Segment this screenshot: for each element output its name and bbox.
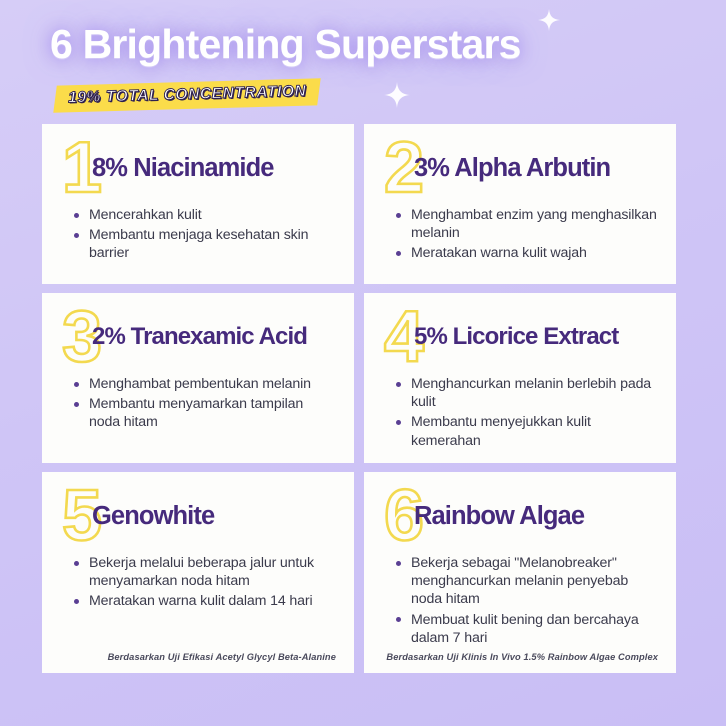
card-title: Rainbow Algae [414, 502, 584, 531]
list-item: Bekerja melalui beberapa jalur untuk men… [74, 554, 336, 590]
header: 6 Brightening Superstars 19% TOTAL CONCE… [0, 0, 726, 122]
list-item: Mencerahkan kulit [74, 206, 336, 224]
ingredient-card-5[interactable]: 5 Genowhite Bekerja melalui beberapa jal… [42, 472, 354, 673]
ingredient-card-4[interactable]: 4 5% Licorice Extract Menghancurkan mela… [364, 293, 676, 463]
card-footnote: Berdasarkan Uji Klinis In Vivo 1.5% Rain… [364, 652, 658, 662]
list-item: Menghancurkan melanin berlebih pada kuli… [396, 375, 658, 411]
benefit-list: Bekerja sebagai "Melanobreaker" menghanc… [396, 554, 658, 647]
list-item: Membuat kulit bening dan bercahaya dalam… [396, 611, 658, 647]
card-header: 6 Rainbow Algae [382, 490, 658, 546]
card-header: 1 8% Niacinamide [60, 142, 336, 198]
list-item: Meratakan warna kulit dalam 14 hari [74, 592, 336, 610]
card-title: 5% Licorice Extract [414, 323, 618, 351]
list-item: Bekerja sebagai "Melanobreaker" menghanc… [396, 554, 658, 609]
ingredient-card-grid: 1 8% Niacinamide Mencerahkan kulit Memba… [42, 124, 676, 673]
card-title: 3% Alpha Arbutin [414, 154, 610, 183]
benefit-list: Menghambat pembentukan melanin Membantu … [74, 375, 336, 432]
card-title: 8% Niacinamide [92, 154, 274, 183]
ingredient-card-2[interactable]: 2 3% Alpha Arbutin Menghambat enzim yang… [364, 124, 676, 284]
card-header: 2 3% Alpha Arbutin [382, 142, 658, 198]
ingredient-card-1[interactable]: 1 8% Niacinamide Mencerahkan kulit Memba… [42, 124, 354, 284]
list-item: Meratakan warna kulit wajah [396, 244, 658, 262]
benefit-list: Menghancurkan melanin berlebih pada kuli… [396, 375, 658, 450]
list-item: Menghambat pembentukan melanin [74, 375, 336, 393]
card-footnote: Berdasarkan Uji Efikasi Acetyl Glycyl Be… [42, 652, 336, 662]
list-item: Membantu menyamarkan tampilan noda hitam [74, 395, 336, 431]
ingredient-card-6[interactable]: 6 Rainbow Algae Bekerja sebagai "Melanob… [364, 472, 676, 673]
card-title: Genowhite [92, 502, 214, 531]
card-header: 3 2% Tranexamic Acid [60, 311, 336, 367]
list-item: Membantu menyejukkan kulit kemerahan [396, 413, 658, 449]
list-item: Membantu menjaga kesehatan skin barrier [74, 226, 336, 262]
benefit-list: Bekerja melalui beberapa jalur untuk men… [74, 554, 336, 611]
concentration-badge: 19% TOTAL CONCENTRATION [55, 78, 320, 112]
badge-label: 19% TOTAL CONCENTRATION [68, 83, 307, 108]
benefit-list: Mencerahkan kulit Membantu menjaga keseh… [74, 206, 336, 263]
page-title: 6 Brightening Superstars [50, 23, 521, 66]
card-header: 5 Genowhite [60, 490, 336, 546]
list-item: Menghambat enzim yang menghasilkan melan… [396, 206, 658, 242]
ingredient-card-3[interactable]: 3 2% Tranexamic Acid Menghambat pembentu… [42, 293, 354, 463]
benefit-list: Menghambat enzim yang menghasilkan melan… [396, 206, 658, 263]
card-header: 4 5% Licorice Extract [382, 311, 658, 367]
badge-background: 19% TOTAL CONCENTRATION [53, 78, 321, 112]
card-title: 2% Tranexamic Acid [92, 323, 307, 351]
